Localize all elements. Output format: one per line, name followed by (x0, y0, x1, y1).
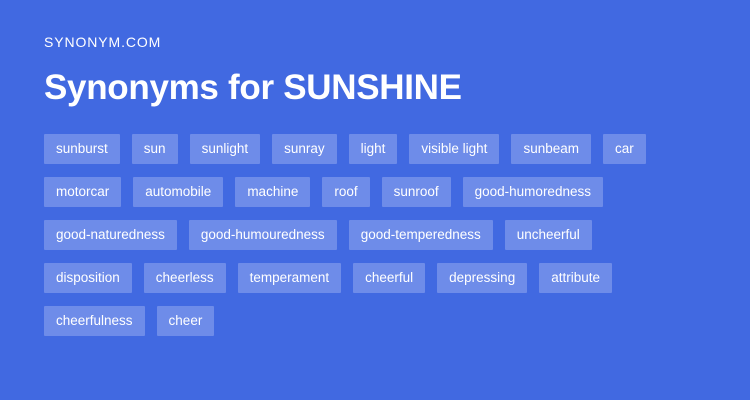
synonym-tag[interactable]: sunbeam (511, 134, 591, 164)
tag-row: cheerfulness cheer (44, 306, 714, 336)
synonym-tag[interactable]: visible light (409, 134, 499, 164)
synonym-tag[interactable]: temperament (238, 263, 342, 293)
synonym-tag[interactable]: sunlight (190, 134, 261, 164)
synonym-tag[interactable]: good-humoredness (463, 177, 603, 207)
synonym-tag[interactable]: sun (132, 134, 178, 164)
synonym-tag[interactable]: automobile (133, 177, 223, 207)
synonyms-card: SYNONYM.COM Synonyms for SUNSHINE sunbur… (0, 0, 750, 400)
synonym-tag[interactable]: sunray (272, 134, 337, 164)
page-title: Synonyms for SUNSHINE (44, 66, 462, 110)
synonym-tag[interactable]: good-naturedness (44, 220, 177, 250)
synonym-tag[interactable]: good-temperedness (349, 220, 493, 250)
synonym-tag[interactable]: depressing (437, 263, 527, 293)
tag-row: motorcar automobile machine roof sunroof… (44, 177, 714, 207)
synonym-tag[interactable]: cheer (157, 306, 215, 336)
synonym-tag[interactable]: roof (322, 177, 369, 207)
synonym-tag[interactable]: disposition (44, 263, 132, 293)
synonym-tag[interactable]: light (349, 134, 398, 164)
synonym-tag[interactable]: motorcar (44, 177, 121, 207)
synonym-tag[interactable]: attribute (539, 263, 612, 293)
tag-row: disposition cheerless temperament cheerf… (44, 263, 714, 293)
synonym-tag[interactable]: sunburst (44, 134, 120, 164)
tag-row: good-naturedness good-humouredness good-… (44, 220, 714, 250)
synonym-tag[interactable]: uncheerful (505, 220, 592, 250)
synonym-tag[interactable]: cheerfulness (44, 306, 145, 336)
synonym-tag[interactable]: cheerless (144, 263, 226, 293)
synonym-tag-list: sunburst sun sunlight sunray light visib… (44, 134, 714, 349)
tag-row: sunburst sun sunlight sunray light visib… (44, 134, 714, 164)
synonym-tag[interactable]: cheerful (353, 263, 425, 293)
synonym-tag[interactable]: good-humouredness (189, 220, 337, 250)
synonym-tag[interactable]: car (603, 134, 646, 164)
site-brand: SYNONYM.COM (44, 33, 161, 51)
synonym-tag[interactable]: machine (235, 177, 310, 207)
synonym-tag[interactable]: sunroof (382, 177, 451, 207)
